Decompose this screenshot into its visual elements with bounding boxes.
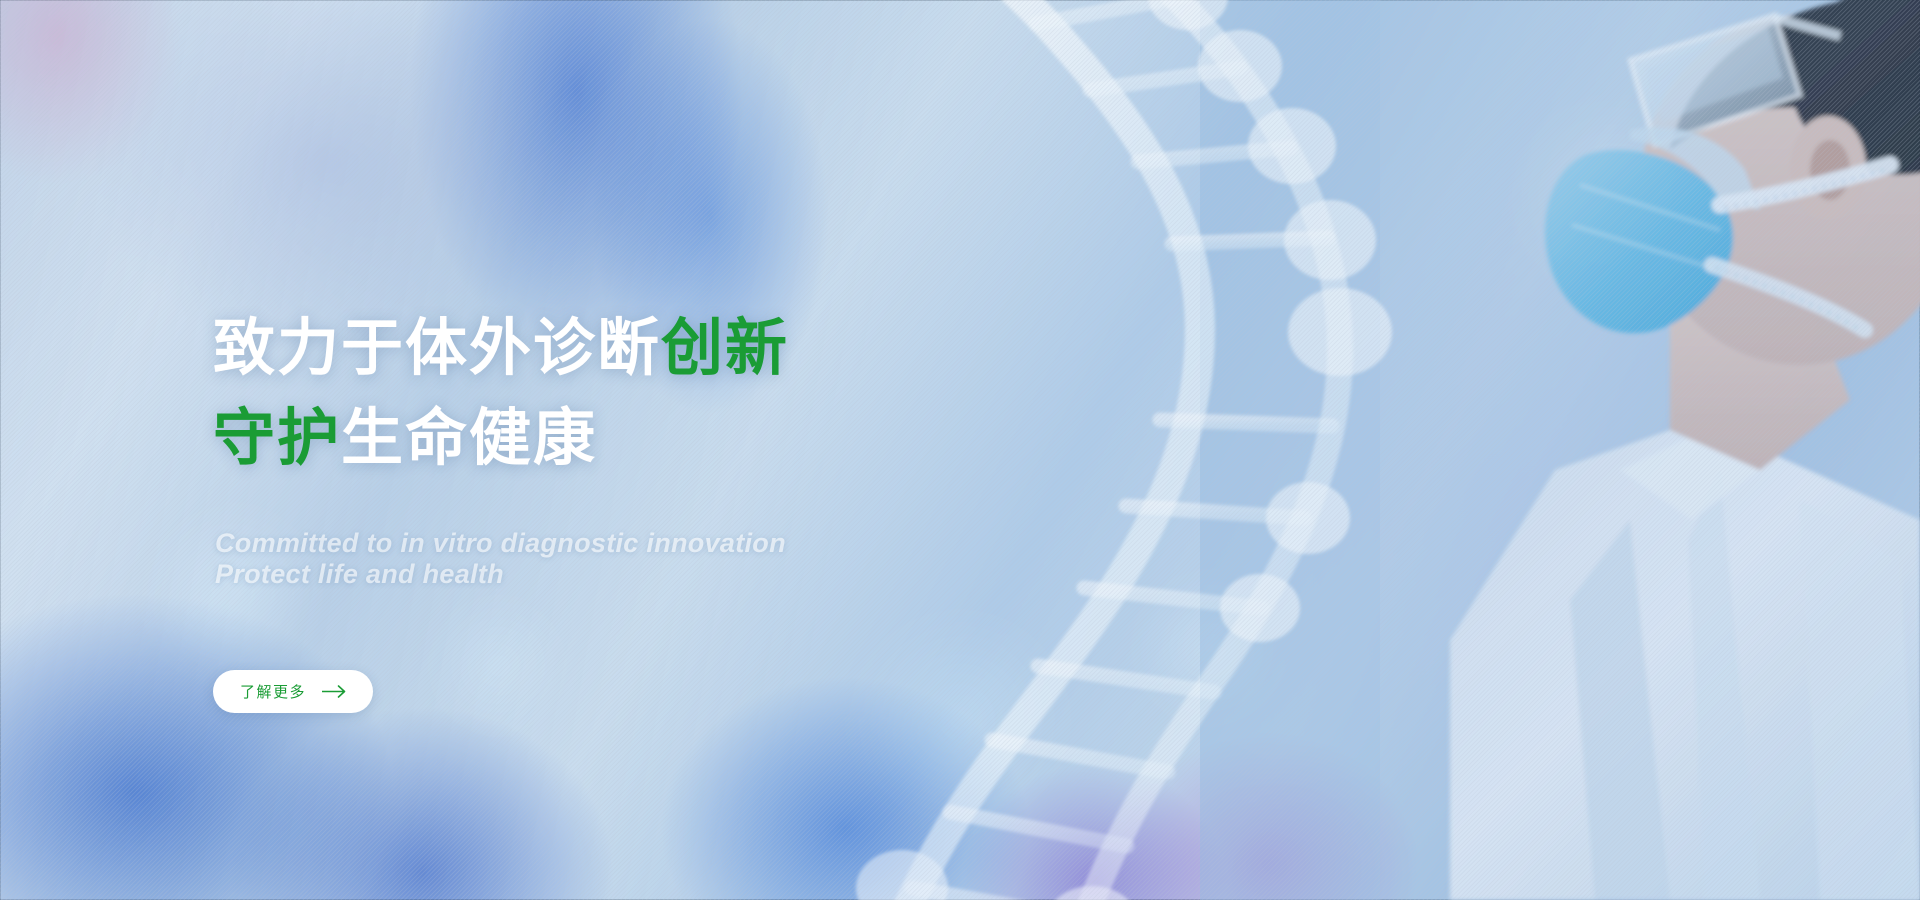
- hero-content: 致力于体外诊断创新 守护生命健康 Committed to in vitro d…: [213, 0, 1213, 900]
- headline-line-1-white: 致力于体外诊断: [213, 314, 661, 383]
- subtitle-line-1: Committed to in vitro diagnostic innovat…: [215, 528, 786, 559]
- headline-line-2-green: 守护: [213, 404, 341, 473]
- learn-more-label: 了解更多: [240, 681, 306, 702]
- subtitle-line-2: Protect life and health: [215, 559, 786, 590]
- headline-line-2: 守护生命健康: [213, 394, 789, 484]
- learn-more-button[interactable]: 了解更多: [213, 670, 373, 713]
- arrow-right-icon: [322, 685, 348, 698]
- headline-line-2-white: 生命健康: [341, 404, 597, 473]
- page-subtitle: Committed to in vitro diagnostic innovat…: [215, 528, 786, 590]
- page-title: 致力于体外诊断创新 守护生命健康: [213, 304, 789, 484]
- headline-line-1: 致力于体外诊断创新: [213, 304, 789, 394]
- headline-line-1-green: 创新: [661, 314, 789, 383]
- hero-banner: 致力于体外诊断创新 守护生命健康 Committed to in vitro d…: [0, 0, 1920, 900]
